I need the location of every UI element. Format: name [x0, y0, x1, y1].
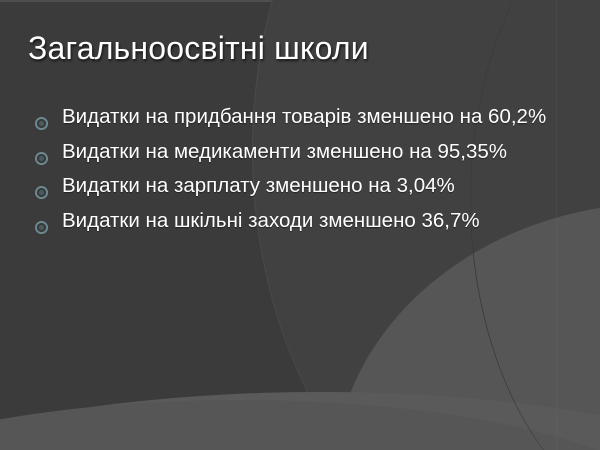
- ring-dot-bullet-icon: [35, 180, 48, 193]
- list-item: Видатки на медикаменти зменшено на 95,35…: [30, 139, 550, 166]
- ring-dot-bullet-icon: [35, 111, 48, 124]
- slide-title: Загальноосвітні школи: [28, 31, 568, 67]
- slide-canvas: Загальноосвітні школи Видатки на придбан…: [0, 0, 600, 450]
- bullet-text: Видатки на медикаменти зменшено на 95,35…: [62, 139, 550, 166]
- ring-dot-bullet-icon: [35, 215, 48, 228]
- bullet-text: Видатки на зарплату зменшено на 3,04%: [62, 173, 550, 200]
- list-item: Видатки на шкільні заходи зменшено 36,7%: [30, 208, 550, 235]
- list-item: Видатки на зарплату зменшено на 3,04%: [30, 173, 550, 200]
- bullet-text: Видатки на шкільні заходи зменшено 36,7%: [62, 208, 550, 235]
- list-item: Видатки на придбання товарів зменшено на…: [30, 104, 550, 131]
- ring-dot-bullet-icon: [35, 146, 48, 159]
- slide-content: Загальноосвітні школи Видатки на придбан…: [0, 0, 600, 450]
- bullet-list: Видатки на придбання товарів зменшено на…: [30, 104, 550, 235]
- bullet-text: Видатки на придбання товарів зменшено на…: [62, 104, 550, 131]
